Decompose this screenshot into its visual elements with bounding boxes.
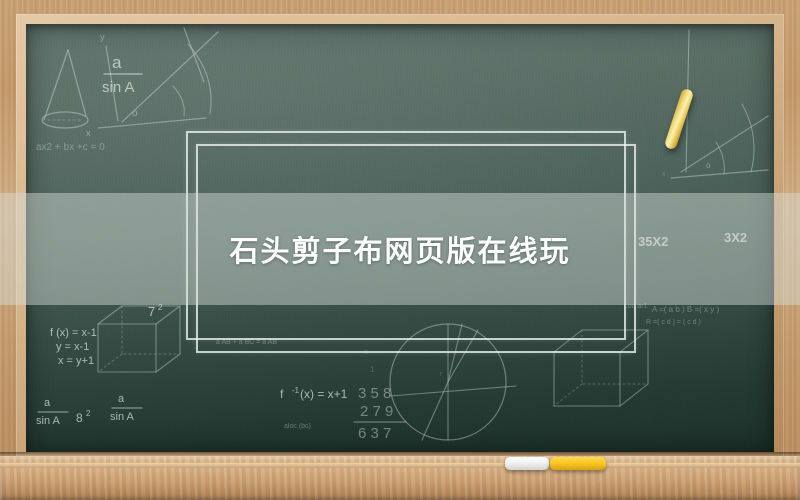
chalk-white-ledge: [505, 457, 549, 470]
svg-text:3 5 8: 3 5 8: [358, 385, 391, 402]
chalk-text-matrix: A =( a b ) B =( x y ): [652, 305, 719, 314]
chalk-text-inverse: f: [280, 387, 284, 401]
chalk-text-sinA: sin A: [102, 79, 135, 96]
long-division: x 1 3 5 8 2 7 9 6 3 7: [354, 347, 406, 442]
chalk-angle-label-o: o: [132, 108, 138, 119]
cube-diagram-left: [98, 306, 180, 372]
chalk-text-y: y = x-1: [56, 341, 89, 353]
chalk-text-fx: f (x) = x-1: [50, 327, 97, 339]
chalk-text-8: 8: [76, 411, 83, 425]
chalkboard-banner: a sin A ax2 + bx +c = 0 y x o: [0, 0, 800, 500]
chalk-text-sinA3: sin A: [110, 411, 135, 423]
chalk-text-a: a: [112, 53, 122, 72]
chalk-text-a2: a: [44, 397, 51, 409]
chalk-axis-label-y: y: [100, 32, 105, 42]
svg-text:(x) = x+1: (x) = x+1: [300, 387, 348, 401]
ledge-lip: [0, 463, 800, 468]
svg-text:r: r: [440, 371, 443, 378]
chalk-text-x: x = y+1: [58, 355, 94, 367]
svg-text:-1: -1: [292, 386, 300, 395]
chalk-text-8exp: 2: [86, 409, 91, 418]
chalk-text-log-bc: aloc (bc): [284, 423, 311, 430]
chalk-text-a3: a: [118, 393, 125, 405]
svg-text:x: x: [662, 171, 666, 178]
page-title: 石头剪子布网页版在线玩: [229, 228, 570, 270]
chalk-text-quadratic: ax2 + bx +c = 0: [36, 142, 105, 153]
svg-text:2 7 9: 2 7 9: [360, 403, 393, 420]
svg-text:1: 1: [370, 365, 375, 374]
overlay-band: 石头剪子布网页版在线玩: [0, 193, 800, 305]
svg-text:R =( c d ) = ( c d ): R =( c d ) = ( c d ): [646, 319, 701, 326]
chalk-yellow-ledge: [550, 457, 606, 470]
svg-text:6 3 7: 6 3 7: [358, 425, 391, 442]
chalk-angle-label-o2: o: [706, 161, 711, 170]
chalk-text-sinA2: sin A: [36, 415, 61, 427]
chalk-axis-label-x: x: [86, 128, 91, 138]
cone-diagram: [42, 50, 88, 128]
